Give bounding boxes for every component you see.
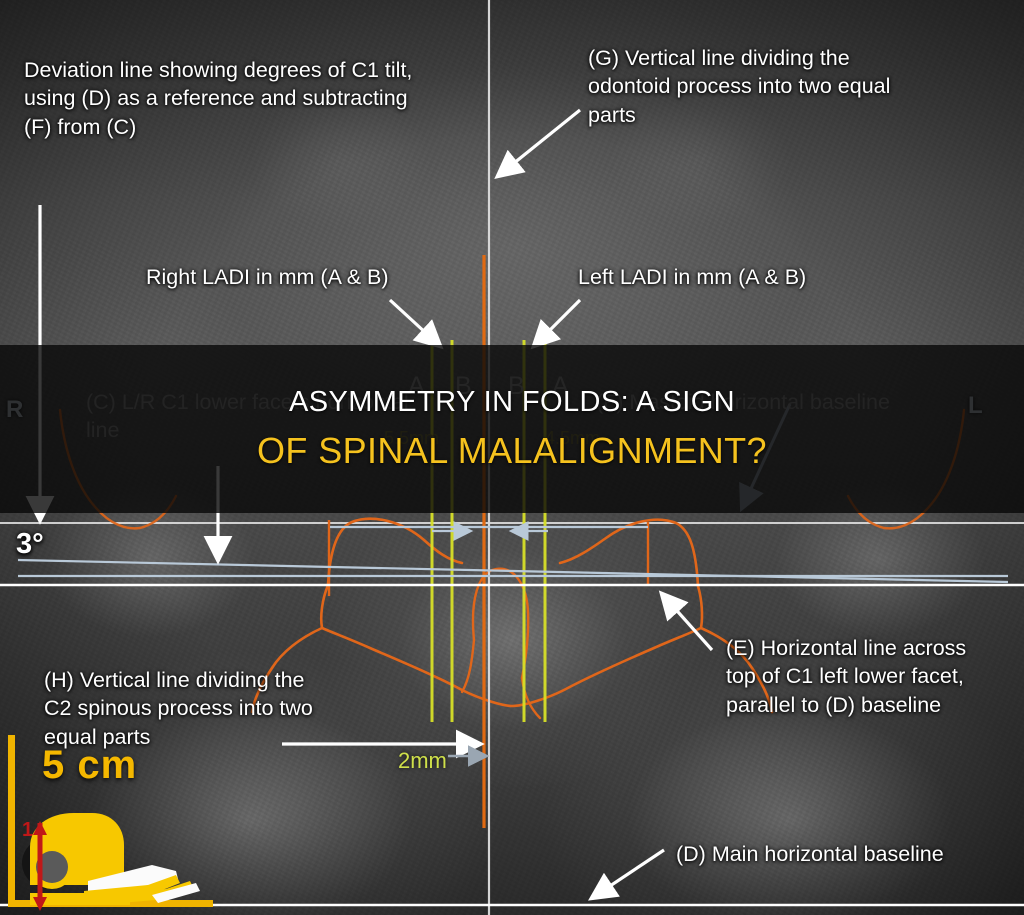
radiograph-annotation-figure: 5 cm 1 R L A B B A 5.5mm 4.5mm (C) L/R C… <box>0 0 1024 915</box>
title-banner: ASYMMETRY IN FOLDS: A SIGN OF SPINAL MAL… <box>0 345 1024 513</box>
scale-bar-widget: 5 cm 1 <box>0 735 216 915</box>
annotation-e-horizontal: (E) Horizontal line across top of C1 lef… <box>726 634 996 719</box>
annotation-left-ladi: Left LADI in mm (A & B) <box>578 263 898 291</box>
title-line-1: ASYMMETRY IN FOLDS: A SIGN <box>289 386 735 419</box>
title-line-2: OF SPINAL MALALIGNMENT? <box>257 430 767 472</box>
tape-measure-icon <box>0 735 216 915</box>
annotation-right-ladi: Right LADI in mm (A & B) <box>146 263 476 291</box>
annotation-deviation-line: Deviation line showing degrees of C1 til… <box>24 56 424 141</box>
annotation-g-odontoid: (G) Vertical line dividing the odontoid … <box>588 44 908 129</box>
lateral-offset-label: 2mm <box>398 748 447 774</box>
quadrant-divider-horizontal <box>0 522 1024 524</box>
annotation-d-baseline: (D) Main horizontal baseline <box>676 840 1016 868</box>
annotation-h-spinous: (H) Vertical line dividing the C2 spinou… <box>44 666 334 751</box>
tilt-angle-label: 3° <box>16 528 44 561</box>
